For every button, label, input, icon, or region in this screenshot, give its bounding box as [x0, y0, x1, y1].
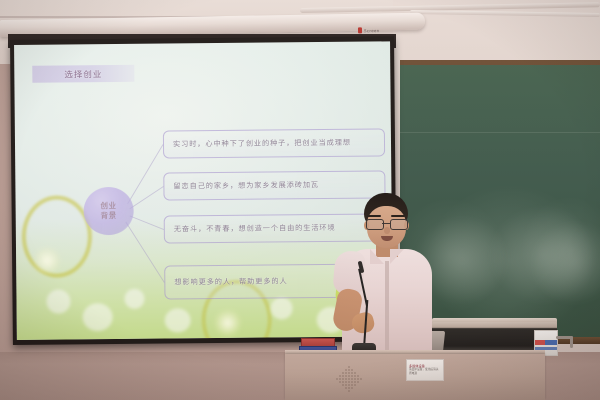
eyebrow — [367, 215, 381, 217]
nose — [384, 227, 390, 234]
podium-label-line-2: 请爱护设备，使用后请关闭电源 — [409, 368, 441, 376]
slide-item: 实习时，心中种下了创业的种子，把创业当成理想 — [163, 128, 385, 158]
podium-notice-label: 多媒体设备 请爱护设备，使用后请关闭电源 — [406, 359, 444, 381]
desk-hook — [570, 336, 573, 348]
tissue-box-band — [535, 340, 557, 345]
podium-emblem-icon — [330, 364, 368, 396]
brand-text: Screen — [364, 28, 380, 33]
eyebrow — [391, 215, 405, 217]
classroom-photo: Screen — [0, 0, 600, 400]
chalkboard-horizon-line — [400, 132, 600, 133]
glasses-lens — [366, 219, 384, 230]
glasses-lens — [390, 219, 408, 230]
presenter — [330, 193, 460, 358]
brand-mark-icon — [358, 27, 362, 33]
collar — [370, 249, 404, 265]
shirt-placket — [385, 261, 389, 351]
glasses-bridge — [382, 223, 390, 224]
